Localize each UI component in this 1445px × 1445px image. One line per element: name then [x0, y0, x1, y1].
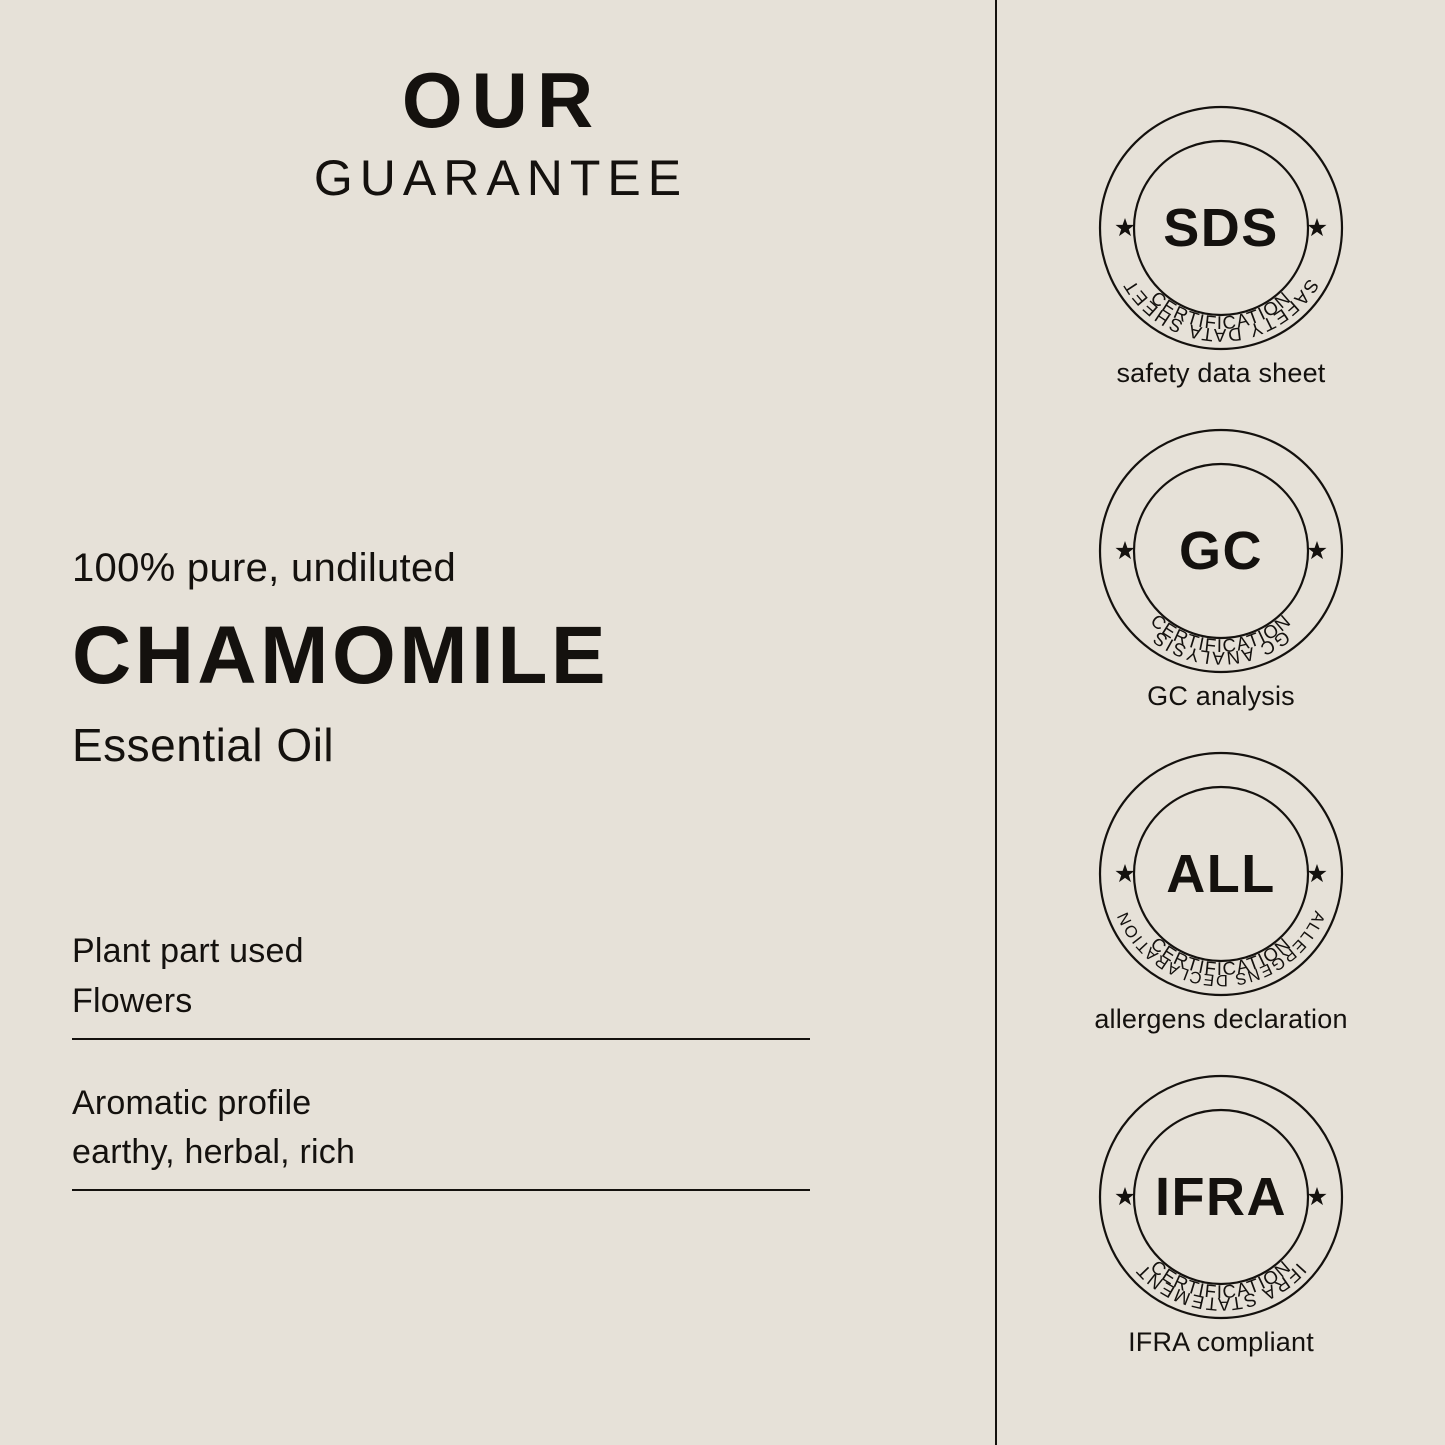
- spec-value: earthy, herbal, rich: [72, 1130, 810, 1174]
- page-title: OUR GUARANTEE: [0, 60, 995, 210]
- product-identity: 100% pure, undiluted CHAMOMILE Essential…: [72, 546, 872, 770]
- product-name: CHAMOMILE: [72, 610, 872, 702]
- star-icon: [1308, 864, 1327, 882]
- star-icon: [1116, 218, 1135, 236]
- spec-label: Aromatic profile: [72, 1082, 810, 1125]
- left-content-panel: OUR GUARANTEE 100% pure, undiluted CHAMO…: [0, 0, 995, 1445]
- spec-label: Plant part used: [72, 930, 810, 973]
- seal-center-text: SDS: [1163, 198, 1279, 258]
- star-icon: [1116, 1187, 1135, 1205]
- seal-center-text: ALL: [1166, 844, 1275, 904]
- product-purity-claim: 100% pure, undiluted: [72, 546, 872, 590]
- guarantee-page: OUR GUARANTEE 100% pure, undiluted CHAMO…: [0, 0, 1445, 1445]
- seal-center-text: IFRA: [1155, 1167, 1287, 1227]
- seal-top-arc-text: SAFETY DATA SHEET: [1119, 276, 1324, 346]
- star-icon: [1308, 541, 1327, 559]
- seal-center-text: GC: [1179, 521, 1263, 581]
- certification-badge: ALLERGENS DECLARATION CERTIFICATION ALL …: [997, 749, 1445, 1035]
- page-title-secondary: GUARANTEE: [0, 147, 995, 210]
- certification-badge: IFRA STATEMENT CERTIFICATION IFRA IFRA c…: [997, 1072, 1445, 1358]
- certification-badge: GC ANALYSIS CERTIFICATION GC GC analysis: [997, 426, 1445, 712]
- star-icon: [1116, 541, 1135, 559]
- certification-badge: SAFETY DATA SHEET CERTIFICATION SDS safe…: [997, 103, 1445, 389]
- page-title-primary: OUR: [0, 60, 995, 141]
- product-type: Essential Oil: [72, 720, 872, 771]
- certification-badges-panel: SAFETY DATA SHEET CERTIFICATION SDS safe…: [997, 0, 1445, 1445]
- badge-caption: GC analysis: [997, 680, 1445, 712]
- certification-seal: GC ANALYSIS CERTIFICATION GC: [1096, 426, 1346, 676]
- product-specs: Plant part used Flowers Aromatic profile…: [72, 930, 810, 1191]
- spec-row: Plant part used Flowers: [72, 930, 810, 1040]
- spec-divider: [72, 1038, 810, 1040]
- badge-caption: safety data sheet: [997, 357, 1445, 389]
- certification-seal: ALLERGENS DECLARATION CERTIFICATION ALL: [1096, 749, 1346, 999]
- star-icon: [1308, 1187, 1327, 1205]
- spec-divider: [72, 1189, 810, 1191]
- spec-row: Aromatic profile earthy, herbal, rich: [72, 1082, 810, 1192]
- certification-seal: IFRA STATEMENT CERTIFICATION IFRA: [1096, 1072, 1346, 1322]
- star-icon: [1308, 218, 1327, 236]
- badge-caption: IFRA compliant: [997, 1326, 1445, 1358]
- spec-value: Flowers: [72, 979, 810, 1023]
- certification-seal: SAFETY DATA SHEET CERTIFICATION SDS: [1096, 103, 1346, 353]
- badge-caption: allergens declaration: [997, 1003, 1445, 1035]
- star-icon: [1116, 864, 1135, 882]
